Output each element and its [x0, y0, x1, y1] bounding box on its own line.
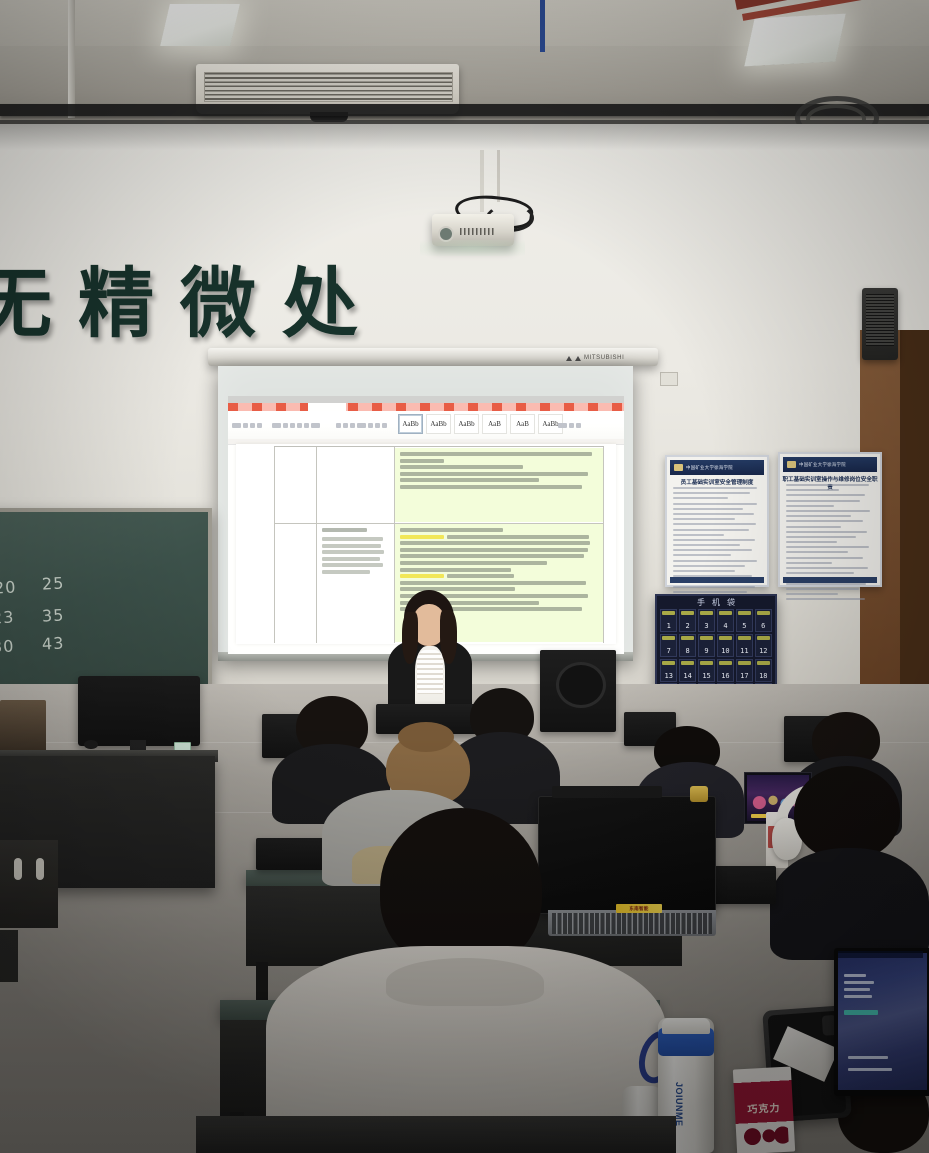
desk-trinket [690, 786, 708, 802]
table-cell-content [395, 448, 603, 522]
pocket-number: 6 [761, 623, 765, 630]
desk-shadow-foreground [196, 1116, 676, 1153]
ribbon-group-clipboard[interactable] [232, 415, 262, 435]
snack-package: 巧克力 [733, 1067, 795, 1153]
university-logo-icon [674, 464, 683, 471]
wall-shadow [0, 124, 929, 150]
phone-pocket[interactable]: 16 [717, 659, 734, 682]
blue-pipe [540, 0, 545, 52]
phone-pocket[interactable]: 9 [698, 634, 715, 657]
phone-pocket[interactable]: 5 [736, 609, 753, 632]
word-style-gallery[interactable]: AaBb AaBb AaBb AaB AaB AaBb [398, 414, 563, 434]
phone-pocket[interactable]: 8 [679, 634, 696, 657]
wall-char: 精 [78, 266, 154, 342]
floor-object [0, 930, 18, 982]
snack-label: 巧克力 [734, 1098, 793, 1116]
air-conditioner-grill [204, 72, 453, 102]
word-ribbon[interactable]: AaBb AaBb AaBb AaB AaB AaBb [228, 411, 624, 440]
pocket-chart-title: 手机袋 [657, 597, 775, 608]
phone-pocket[interactable]: 4 [717, 609, 734, 632]
phone-pocket[interactable]: 12 [755, 634, 772, 657]
wall-char: 无 [0, 266, 52, 342]
pocket-number: 17 [740, 673, 748, 680]
poster-header: 中国矿业大学徐海学院 [670, 460, 764, 475]
computer-mouse[interactable] [84, 740, 98, 749]
chalk-number: 25 [42, 573, 65, 593]
snack-graphic [742, 1124, 789, 1148]
duty-poster: 中国矿业大学徐海学院 职工基础实训室操作与维修岗位安全职责 [778, 452, 882, 587]
wall-outlet [660, 372, 678, 386]
phone-pocket[interactable]: 15 [698, 659, 715, 682]
pocket-number: 11 [740, 648, 748, 655]
mitsubishi-icon [575, 356, 581, 361]
style-option[interactable]: AaBb [398, 414, 423, 434]
phone-pocket[interactable]: 13 [660, 659, 677, 682]
phone-pocket[interactable]: 10 [717, 634, 734, 657]
monitor-behind-laptop [552, 786, 662, 798]
phone-pocket[interactable]: 6 [755, 609, 772, 632]
pocket-number: 15 [702, 673, 710, 680]
desk-clutter [0, 700, 46, 752]
table-cell-goal [274, 524, 315, 642]
classroom-scene: 无 精 微 处 MITSUBISHI [0, 0, 929, 1153]
student-head-headphones [794, 766, 900, 860]
chalk-number: 35 [42, 605, 65, 625]
pocket-number: 1 [667, 623, 671, 630]
poster-title: 员工基础实训室安全管理制度 [667, 478, 767, 486]
pocket-number: 13 [664, 673, 672, 680]
style-option[interactable]: AaBb [454, 414, 479, 434]
pocket-number: 9 [704, 648, 708, 655]
side-cabinet [0, 840, 58, 928]
chalk-number: 23 [0, 607, 15, 627]
laptop-sticker-label: 东南智能 [629, 906, 649, 912]
phone-pocket[interactable]: 1 [660, 609, 677, 632]
pocket-number: 7 [667, 648, 671, 655]
safety-poster: 中国矿业大学徐海学院 员工基础实训室安全管理制度 [665, 455, 769, 587]
phone-pocket[interactable]: 3 [698, 609, 715, 632]
chalk-number: 20 [0, 577, 17, 597]
mitsubishi-icon [566, 356, 572, 361]
poster-org-label: 中国矿业大学徐海学院 [799, 462, 846, 468]
phone-pocket[interactable]: 7 [660, 634, 677, 657]
ceiling-beam [0, 104, 929, 116]
laptop-keys[interactable] [552, 913, 712, 934]
game-laptop[interactable] [834, 948, 929, 1096]
ceiling-light-panel [744, 14, 845, 67]
game-hud-top [838, 951, 923, 958]
wall-char: 微 [180, 266, 256, 342]
screen-brand-label: MITSUBISHI [584, 355, 624, 361]
student-monitor [256, 838, 326, 870]
phone-pocket[interactable]: 2 [679, 609, 696, 632]
blackboard [0, 508, 212, 702]
poster-org-label: 中国矿业大学徐海学院 [686, 465, 733, 471]
thermos-lid [662, 1018, 710, 1034]
chalk-number: 43 [42, 633, 65, 653]
game-status-badge [844, 1010, 878, 1015]
table-cell-goal-text [317, 537, 393, 641]
phone-pocket[interactable]: 18 [755, 659, 772, 682]
teacher-monitor [78, 676, 200, 746]
style-option[interactable]: AaBb [426, 414, 451, 434]
ceiling-light-panel [160, 4, 240, 46]
poster-footer-bar [670, 577, 764, 583]
door-edge [900, 330, 929, 690]
projector-mount-pole [497, 150, 500, 202]
pocket-number: 2 [686, 623, 690, 630]
style-option[interactable]: AaB [482, 414, 507, 434]
ribbon-group-editing[interactable] [558, 415, 581, 435]
pocket-number: 5 [742, 623, 746, 630]
poster-footer-bar [783, 577, 877, 583]
pocket-number: 18 [759, 673, 767, 680]
phone-pocket[interactable]: 17 [736, 659, 753, 682]
pocket-number: 4 [723, 623, 727, 630]
university-logo-icon [787, 461, 796, 468]
chalk-number: 30 [0, 636, 15, 656]
pocket-number: 3 [704, 623, 708, 630]
wall-char: 处 [282, 266, 358, 342]
pocket-number: 10 [721, 648, 729, 655]
student-body [770, 848, 929, 960]
presenter-hair-side [440, 610, 457, 664]
presenter-blouse-ruffle [417, 650, 443, 694]
student-laptop-keyboard[interactable] [548, 910, 716, 936]
wall-signage: 无 精 微 处 [0, 255, 396, 353]
word-active-tab[interactable] [308, 403, 346, 411]
ribbon-group-font[interactable] [272, 415, 320, 435]
pocket-number: 16 [721, 673, 729, 680]
projector-glow [420, 240, 525, 256]
projector-vent [460, 228, 494, 235]
pocket-number: 8 [686, 648, 690, 655]
hair-bun [398, 722, 454, 752]
word-title-bar [228, 396, 624, 403]
pocket-number: 14 [683, 673, 691, 680]
hoodie-hood [386, 958, 544, 1006]
ribbon-group-paragraph[interactable] [336, 415, 387, 435]
ceiling-conduit [68, 0, 75, 118]
poster-header: 中国矿业大学徐海学院 [783, 457, 877, 472]
speaker-cone [556, 662, 606, 708]
poster-body-text [786, 484, 874, 573]
poster-body-text [673, 487, 761, 573]
pocket-number: 12 [759, 648, 767, 655]
screen-brand-logo: MITSUBISHI [566, 353, 658, 363]
laptop-sticker: 东南智能 [616, 904, 662, 913]
presenter-hair-side [402, 612, 418, 664]
phone-pocket[interactable]: 11 [736, 634, 753, 657]
student-laptop-screen[interactable] [538, 796, 716, 914]
phone-pocket[interactable]: 14 [679, 659, 696, 682]
speaker-grill [866, 294, 894, 346]
word-tab-labels [228, 403, 624, 411]
style-option[interactable]: AaB [510, 414, 535, 434]
